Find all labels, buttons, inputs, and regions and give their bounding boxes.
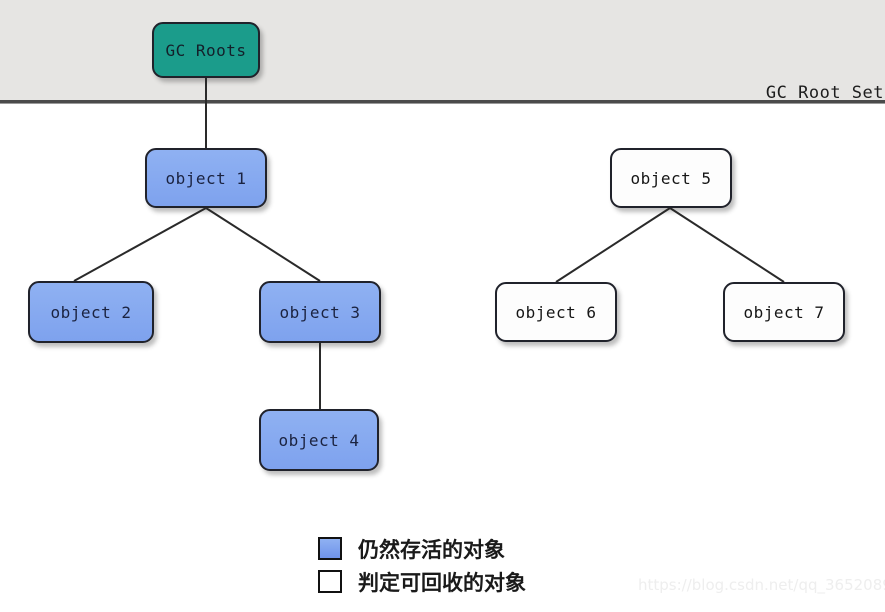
- node-object-4[interactable]: object 4: [259, 409, 379, 471]
- legend-swatch-dead-icon: [318, 570, 342, 593]
- node-object-2[interactable]: object 2: [28, 281, 154, 343]
- node-label: object 5: [630, 169, 711, 188]
- node-label: object 3: [279, 303, 360, 322]
- legend-item-alive: 仍然存活的对象: [318, 532, 526, 565]
- node-object-1[interactable]: object 1: [145, 148, 267, 208]
- edge-object-5-to-object-6: [556, 208, 670, 282]
- node-object-7[interactable]: object 7: [723, 282, 845, 342]
- node-object-6[interactable]: object 6: [495, 282, 617, 342]
- edge-object-1-to-object-3: [206, 208, 320, 281]
- node-label: GC Roots: [165, 41, 246, 60]
- gc-reachability-diagram: GC Root Set GC Rootsobject 1object 2obje…: [0, 0, 885, 612]
- legend-swatch-alive-icon: [318, 537, 342, 560]
- legend-item-dead: 判定可回收的对象: [318, 565, 526, 598]
- node-label: object 2: [50, 303, 131, 322]
- watermark-text: https://blog.csdn.net/qq_36520891: [638, 576, 885, 594]
- legend-label: 仍然存活的对象: [358, 534, 505, 564]
- legend: 仍然存活的对象判定可回收的对象: [318, 532, 526, 598]
- node-label: object 4: [278, 431, 359, 450]
- edge-object-5-to-object-7: [670, 208, 784, 282]
- node-label: object 7: [743, 303, 824, 322]
- node-label: object 1: [165, 169, 246, 188]
- edge-object-1-to-object-2: [74, 208, 206, 281]
- node-object-3[interactable]: object 3: [259, 281, 381, 343]
- node-gc-roots[interactable]: GC Roots: [152, 22, 260, 78]
- node-label: object 6: [515, 303, 596, 322]
- legend-label: 判定可回收的对象: [358, 567, 526, 597]
- node-object-5[interactable]: object 5: [610, 148, 732, 208]
